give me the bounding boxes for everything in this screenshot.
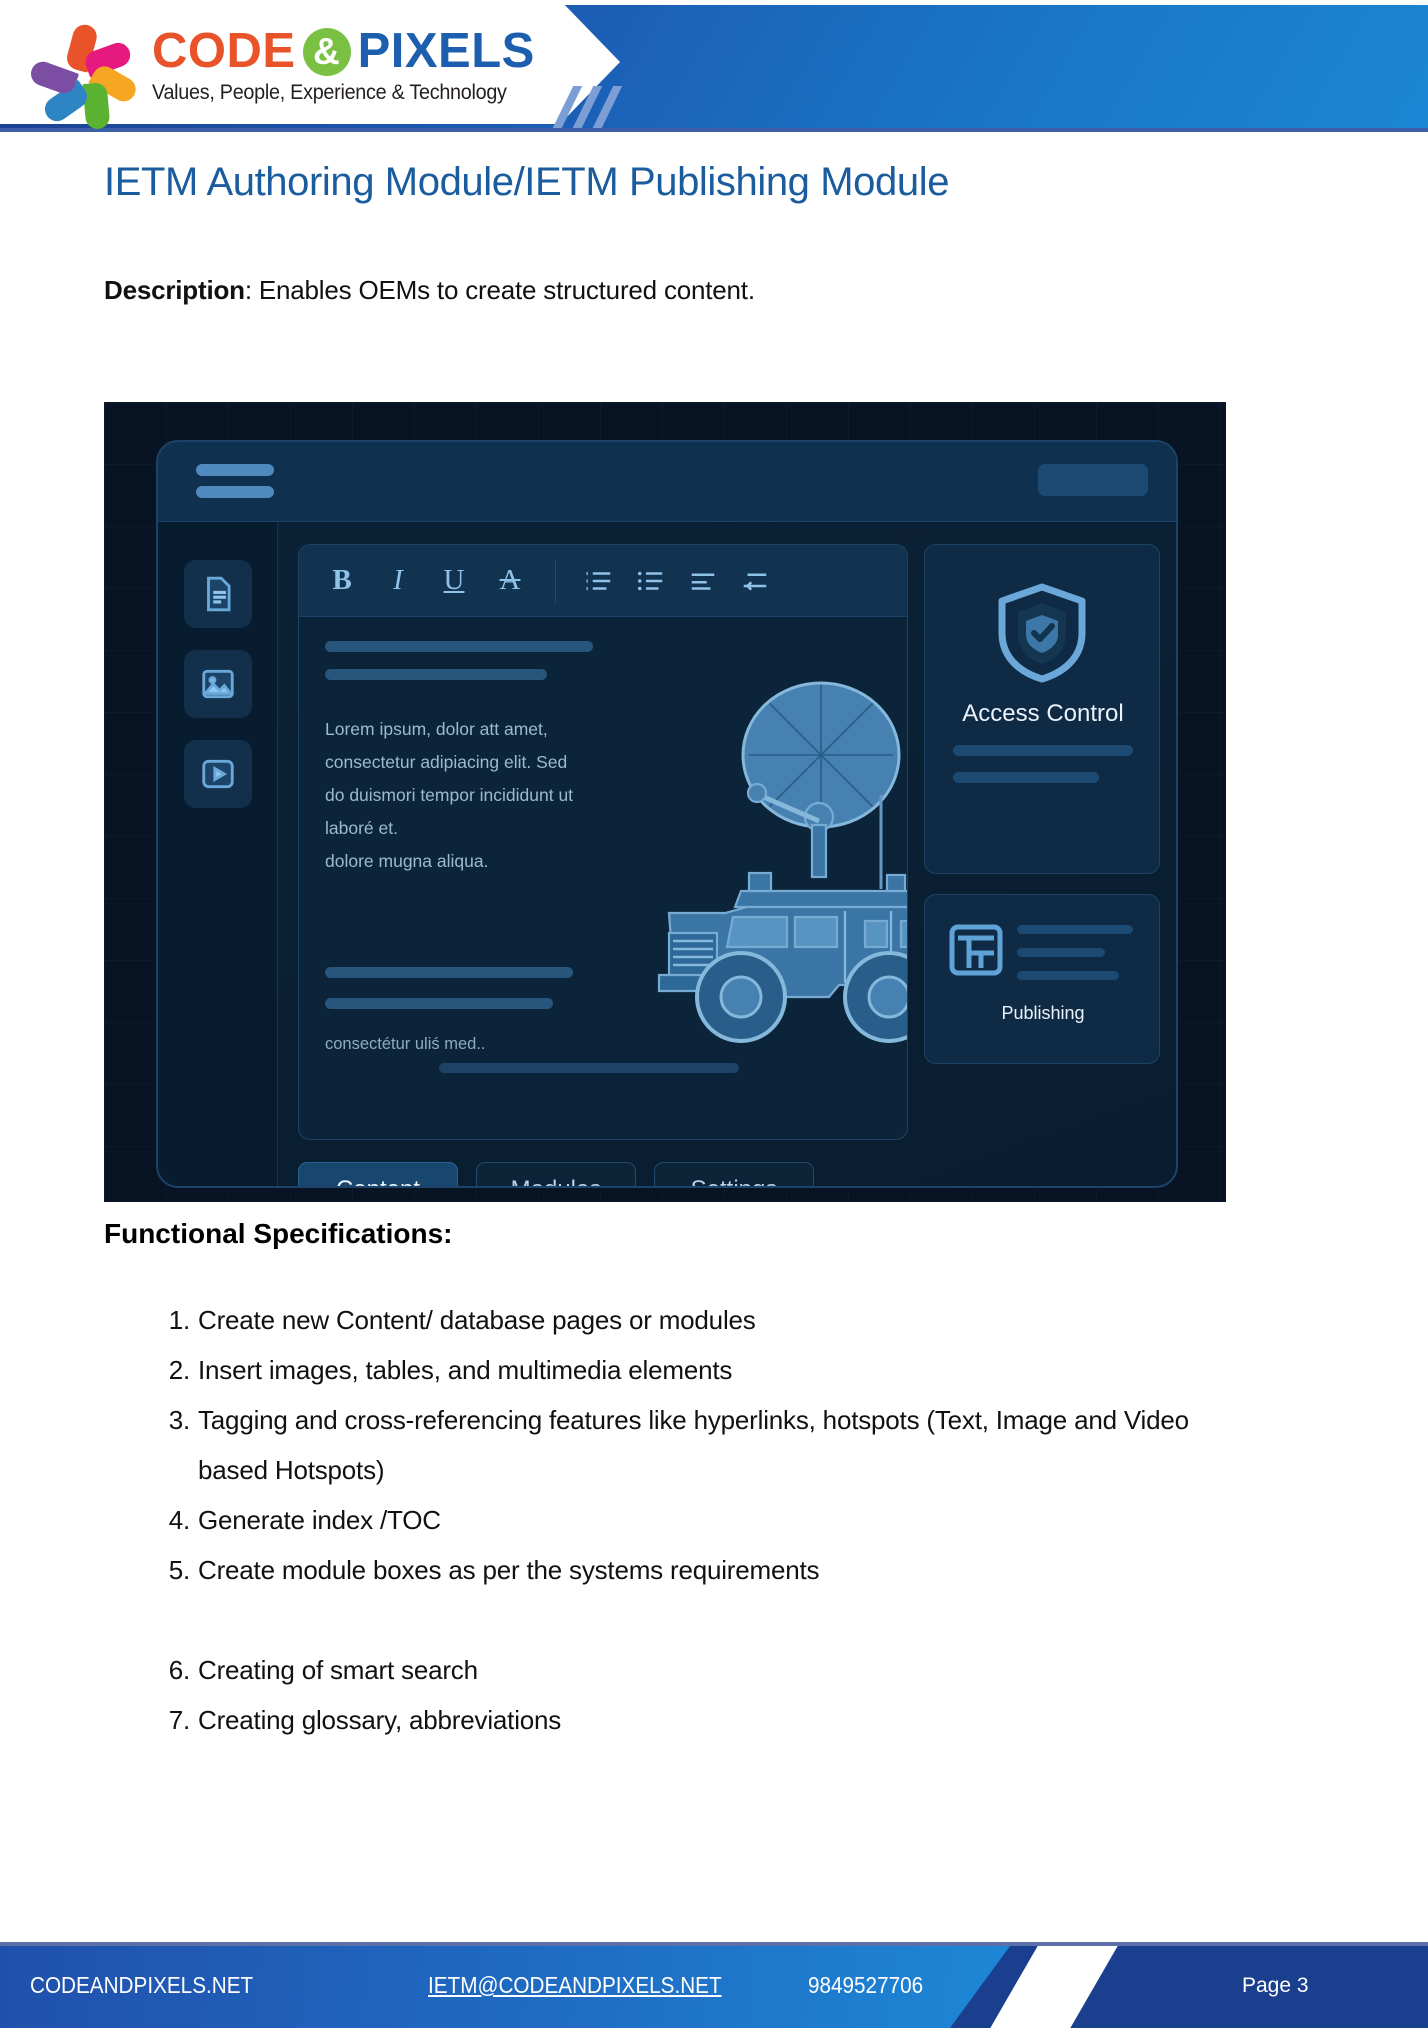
shield-check-icon xyxy=(994,581,1090,685)
access-control-placeholder-lines xyxy=(953,745,1133,799)
publishing-placeholder-lines xyxy=(1017,925,1133,994)
italic-button[interactable]: I xyxy=(381,564,415,597)
logo-wordmark: CODE & PIXELS Values, People, Experience… xyxy=(152,27,538,105)
video-icon[interactable] xyxy=(184,740,252,808)
description-separator: : xyxy=(245,275,259,305)
list-item: 2. Insert images, tables, and multimedia… xyxy=(150,1345,1250,1395)
mockup-editor-panel: B I U A xyxy=(298,544,908,1140)
image-icon[interactable] xyxy=(184,650,252,718)
ordered-list-icon[interactable] xyxy=(584,568,614,594)
footer-phone: 9849527706 xyxy=(808,1972,923,1999)
mockup-footer-placeholder-lines xyxy=(325,967,573,1029)
list-item-number: 6. xyxy=(150,1645,190,1695)
functional-specifications-list: 1. Create new Content/ database pages or… xyxy=(150,1295,1250,1745)
list-item-text: Creating of smart search xyxy=(198,1655,478,1685)
header-bottom-rule xyxy=(0,128,1428,132)
underline-button[interactable]: U xyxy=(437,564,471,597)
description-text: Enables OEMs to create structured conten… xyxy=(259,275,755,305)
publishing-label: Publishing xyxy=(925,1003,1161,1024)
strikethrough-button[interactable]: A xyxy=(493,564,527,597)
mockup-tab-bar: Content Modules Settings xyxy=(298,1162,814,1188)
footer-website[interactable]: CODEANDPIXELS.NET xyxy=(30,1972,253,1999)
mockup-heading-placeholder-lines xyxy=(325,641,593,697)
header-top-rule xyxy=(0,0,1428,5)
list-item-text: Generate index /TOC xyxy=(198,1505,441,1535)
list-item: 6. Creating of smart search xyxy=(150,1645,1250,1695)
indent-icon[interactable] xyxy=(740,568,770,594)
logo-ampersand: & xyxy=(303,28,351,76)
company-logo[interactable]: CODE & PIXELS Values, People, Experience… xyxy=(30,14,538,118)
access-control-label: Access Control xyxy=(925,700,1161,728)
list-item-text: Create module boxes as per the systems r… xyxy=(198,1555,819,1585)
list-item: 4. Generate index /TOC xyxy=(150,1495,1250,1545)
list-item-number: 5. xyxy=(150,1545,190,1595)
page-footer: CODEANDPIXELS.NET IETM@CODEANDPIXELS.NET… xyxy=(0,1942,1428,2028)
mockup-app-window: B I U A xyxy=(156,440,1178,1188)
access-control-card[interactable]: Access Control xyxy=(924,544,1160,874)
list-item-text: Create new Content/ database pages or mo… xyxy=(198,1305,756,1335)
hamburger-menu-icon[interactable] xyxy=(196,464,274,498)
mockup-editor-body-text: Lorem ipsum, dolor att amet, consectetur… xyxy=(325,713,575,878)
bold-button[interactable]: B xyxy=(325,564,359,597)
pinwheel-logo-icon xyxy=(30,14,138,118)
list-item-text: Creating glossary, abbreviations xyxy=(198,1705,561,1735)
tab-content[interactable]: Content xyxy=(298,1162,458,1188)
logo-tagline: Values, People, Experience & Technology xyxy=(152,80,507,105)
toolbar-divider xyxy=(555,559,556,603)
description-paragraph: Description: Enables OEMs to create stru… xyxy=(104,275,755,306)
mockup-editor-caption: consectétur uliś med.. xyxy=(325,1035,486,1054)
list-item-number: 7. xyxy=(150,1695,190,1745)
header-slash-accent xyxy=(548,86,658,132)
tab-settings[interactable]: Settings xyxy=(654,1162,814,1188)
list-item-text: Tagging and cross-referencing features l… xyxy=(198,1405,1189,1485)
mockup-right-panel: Access Control xyxy=(924,544,1160,1140)
mockup-topright-pill[interactable] xyxy=(1038,464,1148,496)
list-item: 1. Create new Content/ database pages or… xyxy=(150,1295,1250,1345)
mockup-titlebar xyxy=(158,442,1178,522)
list-item-number: 1. xyxy=(150,1295,190,1345)
armoured-vehicle-illustration xyxy=(629,645,908,1065)
footer-page-number: Page 3 xyxy=(1242,1974,1309,1998)
list-item: 3. Tagging and cross-referencing feature… xyxy=(150,1395,1250,1495)
logo-word-code: CODE xyxy=(152,27,296,76)
list-item-text: Insert images, tables, and multimedia el… xyxy=(198,1355,732,1385)
publishing-card[interactable]: Publishing xyxy=(924,894,1160,1064)
description-label: Description xyxy=(104,275,245,305)
list-item-number: 2. xyxy=(150,1345,190,1395)
list-item: 7. Creating glossary, abbreviations xyxy=(150,1695,1250,1745)
product-mockup-image: B I U A xyxy=(104,402,1226,1202)
list-item-number: 3. xyxy=(150,1395,190,1445)
mockup-editor-scrollbar[interactable] xyxy=(439,1063,739,1073)
functional-specifications-heading: Functional Specifications: xyxy=(104,1218,452,1250)
align-left-icon[interactable] xyxy=(688,568,718,594)
mockup-body-para-1: Lorem ipsum, dolor att amet, consectetur… xyxy=(325,719,573,838)
document-page: CODE & PIXELS Values, People, Experience… xyxy=(0,0,1428,2028)
page-layout-icon xyxy=(949,923,1003,977)
tab-modules[interactable]: Modules xyxy=(476,1162,636,1188)
footer-email-link[interactable]: IETM@CODEANDPIXELS.NET xyxy=(428,1972,722,1999)
logo-word-pixels: PIXELS xyxy=(358,27,535,76)
document-icon[interactable] xyxy=(184,560,252,628)
list-item: 5. Create module boxes as per the system… xyxy=(150,1545,1250,1595)
mockup-sidebar xyxy=(158,522,278,1188)
page-title: IETM Authoring Module/IETM Publishing Mo… xyxy=(104,160,949,205)
bulleted-list-icon[interactable] xyxy=(636,568,666,594)
list-item-number: 4. xyxy=(150,1495,190,1545)
mockup-body-para-2: dolore mugna aliqua. xyxy=(325,851,488,871)
page-header: CODE & PIXELS Values, People, Experience… xyxy=(0,0,1428,132)
mockup-format-toolbar: B I U A xyxy=(299,545,908,617)
